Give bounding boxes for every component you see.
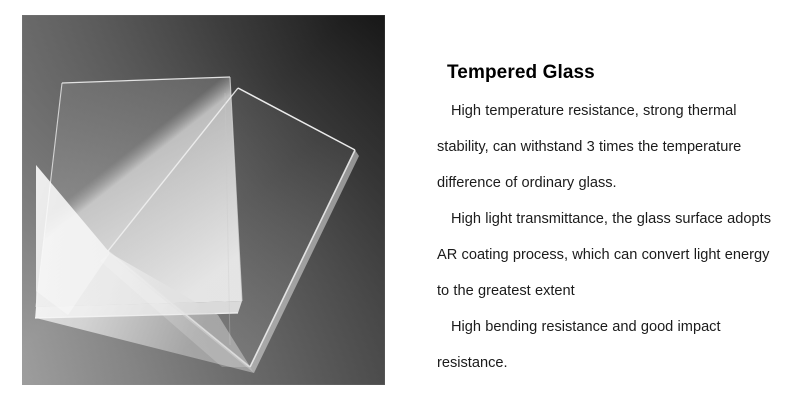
page-title: Tempered Glass (447, 62, 787, 84)
glass-sheets-illustration (22, 15, 385, 385)
product-image (22, 15, 385, 385)
product-description-panel: Tempered Glass High temperature resistan… (437, 62, 787, 381)
feature-paragraph-3: High bending resistance and good impact … (437, 309, 777, 381)
feature-paragraph-2: High light transmittance, the glass surf… (437, 201, 777, 309)
feature-paragraph-1: High temperature resistance, strong ther… (437, 93, 777, 201)
